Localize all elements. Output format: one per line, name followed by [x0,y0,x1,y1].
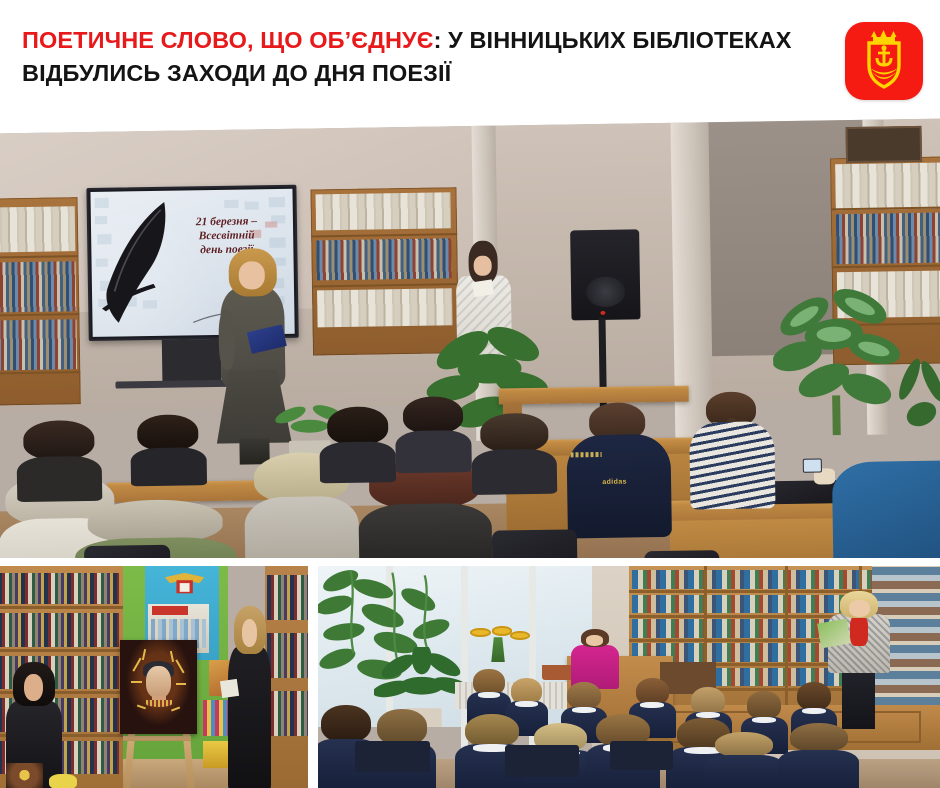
coat-of-arms-icon [845,22,923,100]
chair [355,741,430,772]
audience-head [319,406,396,484]
headline-separator: : [434,27,449,53]
bookshelf-left [0,197,81,405]
chair [610,741,672,770]
photo-bottom-left[interactable] [0,566,308,788]
jacket-brand-label: adidas [602,478,650,491]
headline-highlight: ПОЕТИЧНЕ СЛОВО, ЩО ОБ’ЄДНУЄ [22,27,434,53]
librarian-pink [570,629,620,689]
sunflowers [467,626,535,662]
child [778,723,859,788]
librarian-with-book [828,591,890,730]
audience-head [130,414,207,487]
news-card: ПОЕТИЧНЕ СЛОВО, ЩО ОБ’ЄДНУЄ: У ВІННИЦЬКИ… [0,0,940,788]
book-cover [6,763,43,788]
easel-crossbar [123,736,191,741]
photo-bottom-right[interactable] [318,566,940,788]
portrait-painting [120,640,197,734]
potted-plant [772,281,907,436]
photo-main-scene: 21 березня – Всесвітній день поезії [0,119,940,584]
student-phone [832,460,940,570]
smartphone [803,458,822,472]
open-book [220,679,239,698]
child [704,732,785,788]
audience-head [16,420,103,502]
photo-main[interactable]: 21 березня – Всесвітній день поезії [0,119,940,584]
photo-collage: 21 березня – Всесвітній день поезії [0,118,940,788]
page-title: ПОЕТИЧНЕ СЛОВО, ЩО ОБ’ЄДНУЄ: У ВІННИЦЬКИ… [22,24,812,90]
potted-plant [892,343,940,461]
chair [505,745,580,776]
flowers [49,774,77,788]
photo-bl-scene [0,566,308,788]
gutter-vertical [308,566,318,788]
photo-br-scene [318,566,940,788]
wall-emblem [160,570,209,599]
student-girl [689,391,776,509]
audience-head [395,396,472,474]
header-banner: ПОЕТИЧНЕ СЛОВО, ЩО ОБ’ЄДНУЄ: У ВІННИЦЬКИ… [0,0,940,122]
loudspeaker [570,229,640,320]
presenter-woman [225,606,274,788]
student-adidas: adidas [566,402,672,539]
framed-picture [846,126,922,163]
vinnytsia-logo[interactable] [845,22,923,100]
feather-quill-icon [99,197,174,329]
audience-head [471,413,558,495]
